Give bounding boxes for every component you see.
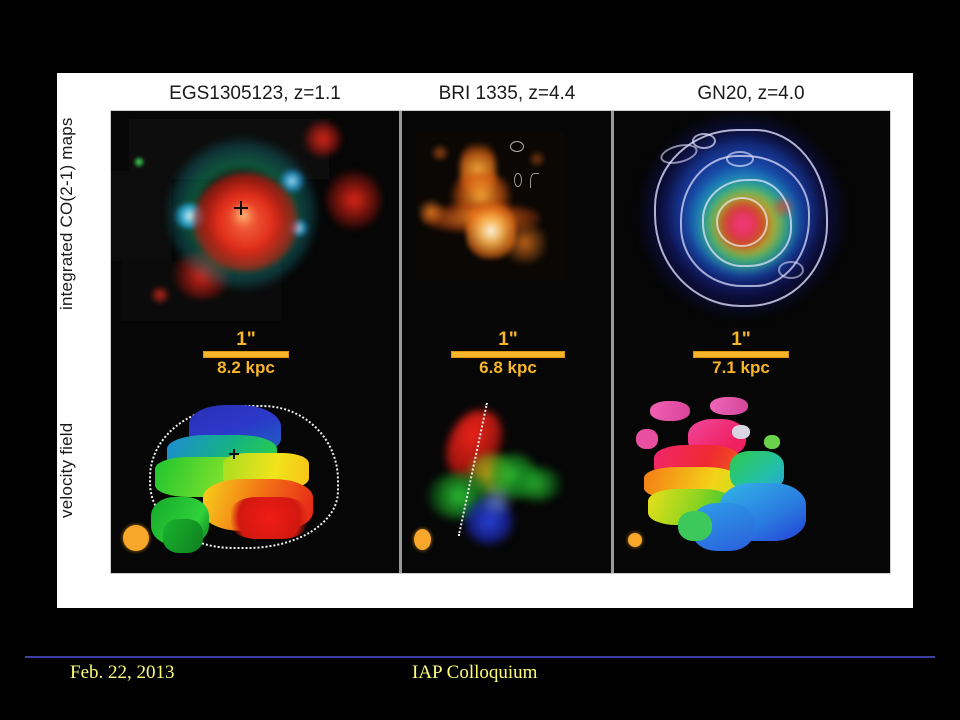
- slide-canvas: integrated CO(2-1) maps velocity field E…: [0, 0, 960, 720]
- footer-divider-rule: [25, 656, 935, 658]
- velocity-field-bri1335: [402, 401, 611, 573]
- co-map-bri1335: [402, 111, 611, 326]
- co-map-gn20: [614, 111, 890, 326]
- column-title-egs1305123: EGS1305123, z=1.1: [110, 79, 400, 109]
- panel-gn20: 1" 7.1 kpc: [614, 111, 890, 573]
- image-panel-area: 1" 8.2 kpc: [110, 110, 891, 574]
- co-map-egs1305123: [111, 111, 399, 326]
- scalebar-kpc-label-gn20: 7.1 kpc: [676, 359, 806, 377]
- scalebar-line-egs1305123: [203, 351, 289, 358]
- scalebar-line-bri1335: [451, 351, 565, 358]
- velocity-field-egs1305123: [111, 401, 399, 573]
- panel-egs1305123: 1" 8.2 kpc: [111, 111, 399, 573]
- panel-bri1335-content: 1" 6.8 kpc: [402, 111, 611, 573]
- scalebar-tick-label-bri1335: 1": [438, 330, 578, 350]
- row-label-co-maps: integrated CO(2-1) maps: [57, 79, 93, 349]
- row-label-velocity-field: velocity field: [57, 355, 93, 585]
- scalebar-tick-label-gn20: 1": [676, 330, 806, 350]
- beam-ellipse-bri1335: [414, 529, 431, 550]
- panel-gn20-content: 1" 7.1 kpc: [614, 111, 890, 573]
- footer-date: Feb. 22, 2013: [70, 662, 175, 684]
- beam-ellipse-gn20: [628, 533, 642, 547]
- scalebar-kpc-label-egs1305123: 8.2 kpc: [181, 359, 311, 377]
- scalebar-kpc-label-bri1335: 6.8 kpc: [438, 359, 578, 377]
- beam-ellipse-egs1305123: [123, 525, 149, 551]
- scalebar-gn20: 1" 7.1 kpc: [676, 330, 806, 377]
- footer-event-title: IAP Colloquium: [412, 662, 537, 684]
- panel-bri1335: 1" 6.8 kpc: [402, 111, 611, 573]
- center-cross-marker-egs1305123: [234, 201, 248, 215]
- scalebar-bri1335: 1" 6.8 kpc: [438, 330, 578, 377]
- scalebar-egs1305123: 1" 8.2 kpc: [181, 330, 311, 377]
- figure-card: integrated CO(2-1) maps velocity field E…: [57, 73, 913, 608]
- velocity-field-gn20: [614, 395, 890, 573]
- column-title-gn20: GN20, z=4.0: [613, 79, 889, 109]
- scalebar-tick-label-egs1305123: 1": [181, 330, 311, 350]
- panel-egs1305123-content: 1" 8.2 kpc: [111, 111, 399, 573]
- column-title-bri1335: BRI 1335, z=4.4: [401, 79, 613, 109]
- scalebar-line-gn20: [693, 351, 789, 358]
